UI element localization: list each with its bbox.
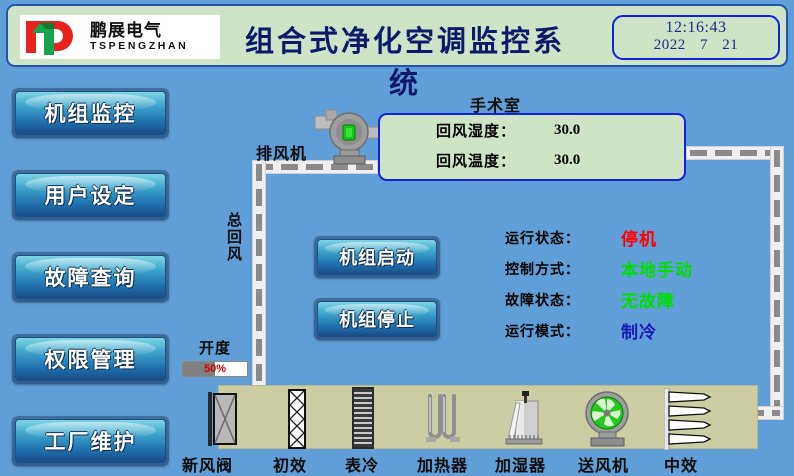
equipment-label-humidifier: 加湿器 [495,452,546,476]
sidebar-item-permission-management[interactable]: 权限管理 [12,334,169,384]
equipment-label-fresh-air-damper: 新风阀 [182,452,233,476]
equipment-label-primary-filter: 初效 [273,452,307,476]
status-list: 运行状态： 停机 控制方式： 本地手动 故障状态： 无故障 运行模式： 制冷 [505,222,715,346]
room-row: 回风温度： 30.0 [380,145,684,175]
clock-day: 21 [722,37,738,53]
clock-date: 2022 7 21 [614,37,778,54]
opening-title: 开度 [182,337,248,358]
sidebar-label: 用户设定 [45,180,137,210]
humidifier-icon [500,389,546,449]
exhaust-fan-icon [312,106,382,166]
room-readout-panel: 回风湿度： 30.0 回风温度： 30.0 [378,113,686,181]
clock-month: 7 [700,37,708,53]
duct-supply-vertical [770,146,784,420]
fault-state-label: 故障状态： [505,290,595,310]
opening-value: 50% [183,362,247,376]
damper-opening-indicator: 开度 50% [182,337,248,377]
logo-english-name: TSPENGZHAN [90,41,188,52]
company-logo: 鹏展电气 TSPENGZHAN [20,15,220,59]
heater-icon [424,392,464,448]
return-temperature-value: 30.0 [554,152,580,169]
return-air-label: 总回风 [224,212,245,263]
equipment-label-supply-fan: 送风机 [578,452,629,476]
supply-fan-icon [580,388,634,450]
primary-filter-icon [288,389,306,449]
opening-bar[interactable]: 50% [182,361,248,377]
hmi-screen: 鹏展电气 TSPENGZHAN 组合式净化空调监控系统 12:16:43 202… [0,0,794,476]
unit-start-label: 机组启动 [339,244,415,270]
return-humidity-label: 回风湿度： [436,120,528,141]
return-temperature-label: 回风温度： [436,150,528,171]
room-row: 回风湿度： 30.0 [380,115,684,145]
header-bar: 鹏展电气 TSPENGZHAN 组合式净化空调监控系统 12:16:43 202… [6,4,788,67]
status-row-run-mode: 运行模式： 制冷 [505,315,715,346]
sidebar-label: 故障查询 [45,262,137,292]
exhaust-fan-label: 排风机 [256,140,307,164]
medium-filter-icon [664,388,716,450]
clock-time: 12:16:43 [614,19,778,37]
sidebar-label: 权限管理 [45,344,137,374]
unit-start-button[interactable]: 机组启动 [314,236,440,278]
equipment-label-cooling-coil: 表冷 [345,452,379,476]
sidebar-item-factory-maintenance[interactable]: 工厂维护 [12,416,169,466]
cooling-coil-icon [352,387,374,449]
status-row-run-state: 运行状态： 停机 [505,222,715,253]
sidebar-item-user-settings[interactable]: 用户设定 [12,170,169,220]
run-mode-label: 运行模式： [505,321,595,341]
control-mode-label: 控制方式： [505,259,595,279]
logo-chinese-name: 鹏展电气 [90,23,188,40]
unit-stop-button[interactable]: 机组停止 [314,298,440,340]
run-state-label: 运行状态： [505,228,595,248]
control-mode-value: 本地手动 [621,256,693,281]
duct-return-vertical [252,160,266,388]
status-row-fault-state: 故障状态： 无故障 [505,284,715,315]
fault-state-value: 无故障 [621,287,675,312]
sidebar-label: 机组监控 [45,98,137,128]
return-humidity-value: 30.0 [554,122,580,139]
clock-display: 12:16:43 2022 7 21 [612,15,780,60]
page-title: 组合式净化空调监控系统 [230,18,580,102]
run-mode-value: 制冷 [621,318,657,343]
sidebar-label: 工厂维护 [45,426,137,456]
equipment-label-heater: 加热器 [417,452,468,476]
sidebar-item-fault-query[interactable]: 故障查询 [12,252,169,302]
status-row-control-mode: 控制方式： 本地手动 [505,253,715,284]
equipment-label-medium-filter: 中效 [664,452,698,476]
logo-mark-icon [24,17,86,57]
sidebar-item-unit-monitor[interactable]: 机组监控 [12,88,169,138]
unit-stop-label: 机组停止 [339,306,415,332]
fresh-air-damper-icon [208,392,238,446]
clock-year: 2022 [654,37,686,53]
run-state-value: 停机 [621,225,657,250]
